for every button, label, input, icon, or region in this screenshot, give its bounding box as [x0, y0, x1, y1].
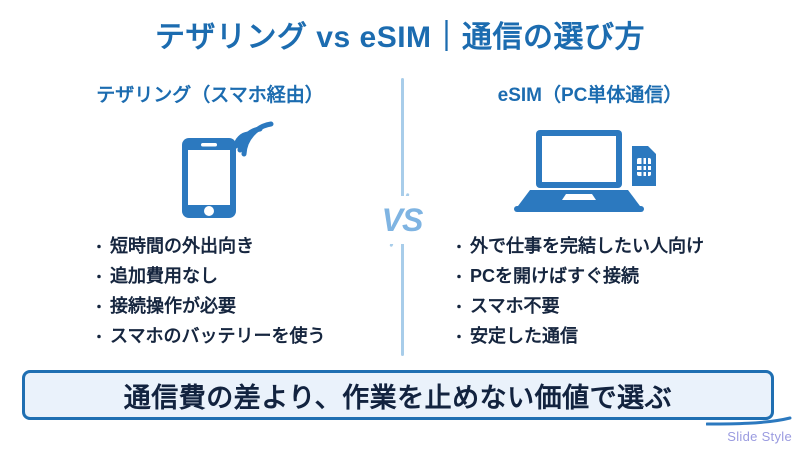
conclusion-banner-text: 通信費の差より、作業を止めない価値で選ぶ	[124, 376, 672, 415]
list-item-label: 安定した通信	[470, 322, 578, 348]
list-item: ・ 接続操作が必要	[92, 292, 325, 322]
slide-canvas: テザリング vs eSIM｜通信の選び方 テザリング（スマホ経由） eSIM（P…	[0, 0, 800, 450]
bullet-marker-icon: ・	[92, 240, 106, 254]
versus-label: VS	[382, 204, 423, 236]
bullet-marker-icon: ・	[92, 270, 106, 284]
laptop-sim-icon	[508, 128, 664, 223]
column-heading-tethering: テザリング（スマホ経由）	[40, 80, 380, 107]
list-item: ・ スマホ不要	[452, 292, 704, 322]
list-item-label: スマホのバッテリーを使う	[110, 322, 325, 348]
bullet-marker-icon: ・	[452, 330, 466, 344]
list-item-label: 追加費用なし	[110, 262, 218, 288]
footer-watermark: Slide Style	[727, 429, 792, 444]
column-heading-esim: eSIM（PC単体通信）	[420, 80, 760, 107]
list-item: ・ 外で仕事を完結したい人向け	[452, 232, 704, 262]
smartphone-wifi-icon	[168, 112, 280, 225]
list-item-label: 外で仕事を完結したい人向け	[470, 232, 704, 258]
bullet-marker-icon: ・	[452, 300, 466, 314]
page-title: テザリング vs eSIM｜通信の選び方	[0, 20, 800, 56]
conclusion-banner: 通信費の差より、作業を止めない価値で選ぶ	[22, 370, 774, 420]
bullet-list-esim: ・ 外で仕事を完結したい人向け ・ PCを開けばすぐ接続 ・ スマホ不要 ・ 安…	[452, 232, 704, 352]
list-item: ・ スマホのバッテリーを使う	[92, 322, 325, 352]
list-item: ・ PCを開けばすぐ接続	[452, 262, 704, 292]
list-item: ・ 安定した通信	[452, 322, 704, 352]
bullet-marker-icon: ・	[452, 240, 466, 254]
list-item: ・ 短時間の外出向き	[92, 232, 325, 262]
bullet-marker-icon: ・	[452, 270, 466, 284]
list-item-label: 接続操作が必要	[110, 292, 236, 318]
list-item-label: 短時間の外出向き	[110, 232, 254, 258]
bullet-marker-icon: ・	[92, 300, 106, 314]
list-item-label: PCを開けばすぐ接続	[470, 262, 639, 288]
swoosh-decoration-icon	[706, 416, 792, 426]
list-item-label: スマホ不要	[470, 292, 559, 318]
versus-badge: VS	[372, 196, 432, 244]
bullet-list-tethering: ・ 短時間の外出向き ・ 追加費用なし ・ 接続操作が必要 ・ スマホのバッテリ…	[92, 232, 325, 352]
list-item: ・ 追加費用なし	[92, 262, 325, 292]
bullet-marker-icon: ・	[92, 330, 106, 344]
